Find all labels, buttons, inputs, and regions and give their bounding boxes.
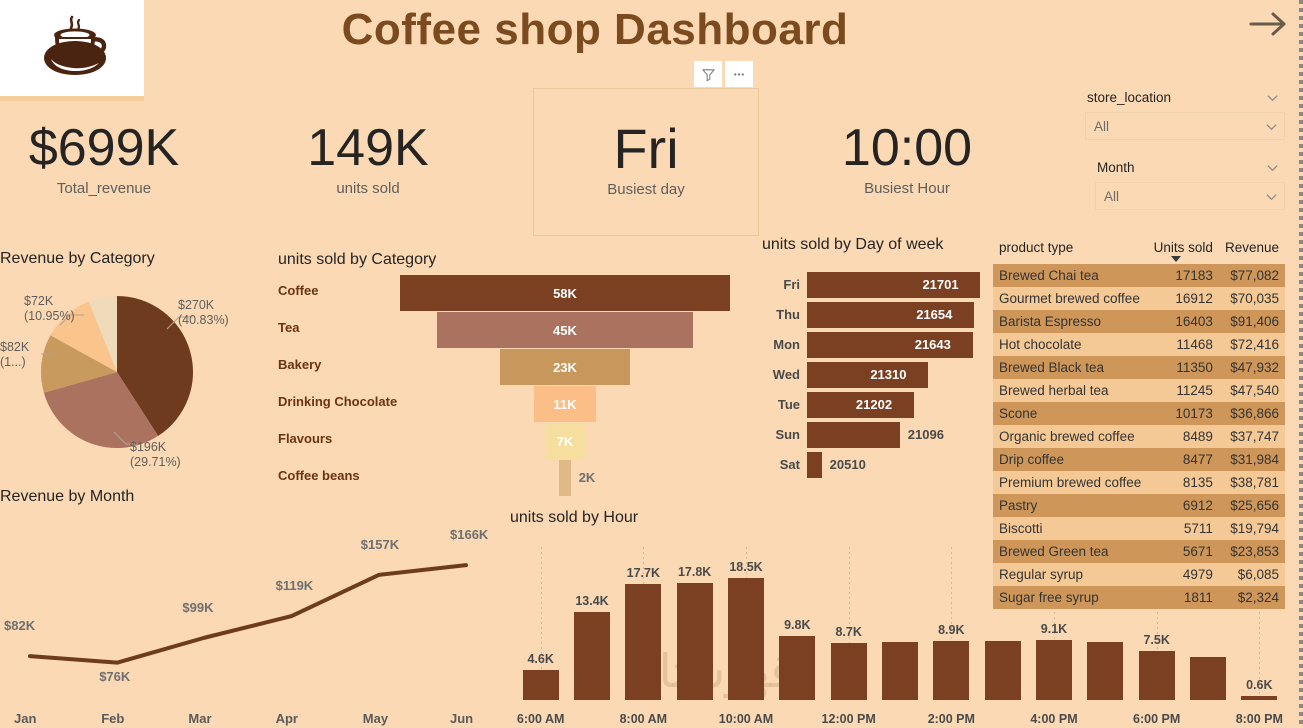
hour-value-label: 0.6K: [1231, 678, 1287, 692]
table-row[interactable]: Regular syrup4979$6,085: [993, 563, 1285, 586]
slicer-month[interactable]: Month All: [1085, 156, 1285, 210]
filter-icon[interactable]: [694, 61, 722, 87]
cell-revenue: $72,416: [1219, 333, 1285, 356]
funnel-track: 58K: [400, 275, 730, 311]
chart-title-revenue-by-category: Revenue by Category: [0, 250, 155, 268]
day-label: Fri: [762, 277, 800, 292]
funnel-category-label: Flavours: [278, 431, 398, 446]
slicer-dropdown[interactable]: All: [1085, 112, 1285, 140]
kpi-value: 10:00: [795, 118, 1019, 178]
funnel-value-label: 58K: [553, 286, 577, 301]
hour-value-label: 17.8K: [667, 565, 723, 579]
more-options-icon[interactable]: [725, 61, 753, 87]
cell-units-sold: 1811: [1148, 586, 1219, 609]
cell-revenue: $36,866: [1219, 402, 1285, 425]
funnel-bar[interactable]: 7K: [545, 423, 585, 459]
cell-revenue: $38,781: [1219, 471, 1285, 494]
line-value-label: $76K: [99, 669, 130, 684]
hour-bar[interactable]: [1139, 651, 1175, 700]
hour-bar[interactable]: [882, 642, 918, 700]
funnel-track: 45K: [400, 312, 730, 348]
cell-revenue: $47,932: [1219, 356, 1285, 379]
day-bar[interactable]: [807, 362, 928, 388]
hour-bar[interactable]: [831, 643, 867, 700]
hour-value-label: 18.5K: [718, 560, 774, 574]
funnel-category-label: Coffee: [278, 283, 398, 298]
col-header-product-type[interactable]: product type: [993, 238, 1148, 264]
cell-product-type: Barista Espresso: [993, 310, 1148, 333]
col-header-units-sold[interactable]: Units sold: [1148, 238, 1219, 264]
funnel-track: 23K: [400, 349, 730, 385]
line-axis-tick: Jun: [450, 711, 473, 726]
cell-revenue: $31,984: [1219, 448, 1285, 471]
chart-title-units-sold-by-hour: units sold by Hour: [510, 509, 638, 527]
slicer-field-label: store_location: [1087, 90, 1171, 105]
day-bar[interactable]: [807, 422, 900, 448]
col-header-revenue[interactable]: Revenue: [1219, 238, 1285, 264]
table-row[interactable]: Brewed herbal tea11245$47,540: [993, 379, 1285, 402]
chevron-down-icon[interactable]: [1265, 120, 1278, 133]
kpi-value: 149K: [280, 118, 456, 178]
day-label: Sun: [762, 427, 800, 442]
cell-product-type: Organic brewed coffee: [993, 425, 1148, 448]
kpi-card-busiest-hour[interactable]: 10:00 Busiest Hour: [795, 118, 1019, 197]
table-row[interactable]: Organic brewed coffee8489$37,747: [993, 425, 1285, 448]
funnel-value-label: 23K: [553, 360, 577, 375]
day-label: Wed: [762, 367, 800, 382]
pie-label-slice-1: $196K(29.71%): [130, 440, 181, 470]
slicer-header[interactable]: Month: [1085, 156, 1285, 178]
kpi-label: units sold: [280, 180, 456, 197]
cell-product-type: Drip coffee: [993, 448, 1148, 471]
cell-product-type: Sugar free syrup: [993, 586, 1148, 609]
coffee-cup-icon: [29, 11, 115, 85]
funnel-value-label: 11K: [553, 397, 576, 412]
hour-axis-tick: 2:00 PM: [911, 712, 991, 726]
cell-units-sold: 8489: [1148, 425, 1219, 448]
chart-revenue-by-month[interactable]: $82K$76K$99K$119K$157K$166KJanFebMarAprM…: [0, 510, 490, 728]
hour-bar[interactable]: [933, 641, 969, 700]
cell-revenue: $6,085: [1219, 563, 1285, 586]
chart-title-units-sold-by-category: units sold by Category: [278, 251, 436, 269]
hour-bar[interactable]: [779, 636, 815, 700]
day-of-week-row[interactable]: Mon21643: [762, 332, 992, 359]
cell-revenue: $70,035: [1219, 287, 1285, 310]
day-bar[interactable]: [807, 452, 822, 478]
funnel-row[interactable]: Bakery23K: [278, 349, 730, 385]
line-svg: [0, 510, 490, 700]
cell-units-sold: 6912: [1148, 494, 1219, 517]
table-row[interactable]: Scone10173$36,866: [993, 402, 1285, 425]
day-of-week-row[interactable]: Sat20510: [762, 452, 992, 479]
hour-value-label: 7.5K: [1129, 633, 1185, 647]
hour-axis-tick: 8:00 AM: [603, 712, 683, 726]
slicer-field-label: Month: [1097, 160, 1135, 175]
table-row[interactable]: Brewed Black tea11350$47,932: [993, 356, 1285, 379]
line-value-label: $99K: [182, 600, 213, 615]
line-axis-tick: May: [363, 711, 388, 726]
cell-units-sold: 11245: [1148, 379, 1219, 402]
hour-value-label: 8.9K: [923, 623, 979, 637]
table-row[interactable]: Barista Espresso16403$91,406: [993, 310, 1285, 333]
product-table: product type Units sold Revenue Brewed C…: [993, 238, 1285, 609]
cell-units-sold: 11350: [1148, 356, 1219, 379]
funnel-category-label: Drinking Chocolate: [278, 394, 398, 409]
chart-units-sold-by-category[interactable]: Coffee58KTea45KBakery23KDrinking Chocola…: [278, 275, 730, 495]
day-label: Thu: [762, 307, 800, 322]
hour-bar[interactable]: [523, 670, 559, 700]
cell-units-sold: 5671: [1148, 540, 1219, 563]
table-row[interactable]: Hot chocolate11468$72,416: [993, 333, 1285, 356]
funnel-value-label: 7K: [557, 434, 574, 449]
hour-bar[interactable]: [677, 583, 713, 700]
line-axis-tick: Apr: [276, 711, 298, 726]
hour-axis-tick: 10:00 AM: [706, 712, 786, 726]
cell-product-type: Brewed Black tea: [993, 356, 1148, 379]
table-row[interactable]: Brewed Chai tea17183$77,082: [993, 264, 1285, 287]
hour-value-label: 4.6K: [513, 652, 569, 666]
table-row[interactable]: Gourmet brewed coffee16912$70,035: [993, 287, 1285, 310]
funnel-track: 11K: [400, 386, 730, 422]
chart-revenue-by-category[interactable]: $270K(40.83%) $196K(29.71%) $82K(1...) $…: [0, 272, 270, 487]
day-value-label: 21701: [922, 277, 958, 292]
day-label: Sat: [762, 457, 800, 472]
cell-product-type: Gourmet brewed coffee: [993, 287, 1148, 310]
hour-bar[interactable]: [625, 584, 661, 700]
cell-product-type: Scone: [993, 402, 1148, 425]
day-value-label: 20510: [830, 457, 866, 472]
funnel-bar[interactable]: 11K: [534, 386, 597, 422]
cell-units-sold: 17183: [1148, 264, 1219, 287]
line-axis-tick: Mar: [188, 711, 211, 726]
hour-bar[interactable]: [985, 641, 1021, 700]
line-value-label: $82K: [4, 618, 35, 633]
hour-axis-tick: 4:00 PM: [1014, 712, 1094, 726]
line-axis-tick: Jan: [14, 711, 36, 726]
cell-units-sold: 8477: [1148, 448, 1219, 471]
funnel-value-label: 2K: [579, 470, 596, 485]
cell-units-sold: 16912: [1148, 287, 1219, 310]
cell-units-sold: 4979: [1148, 563, 1219, 586]
table-row[interactable]: Brewed Green tea5671$23,853: [993, 540, 1285, 563]
cell-product-type: Brewed Green tea: [993, 540, 1148, 563]
table-row[interactable]: Drip coffee8477$31,984: [993, 448, 1285, 471]
day-of-week-row[interactable]: Sun21096: [762, 422, 992, 449]
day-label: Mon: [762, 337, 800, 352]
hour-bar[interactable]: [1087, 642, 1123, 700]
hour-axis-tick: 8:00 PM: [1219, 712, 1299, 726]
cell-units-sold: 8135: [1148, 471, 1219, 494]
funnel-category-label: Tea: [278, 320, 398, 335]
hour-axis-tick: 6:00 PM: [1117, 712, 1197, 726]
funnel-row[interactable]: Tea45K: [278, 312, 730, 348]
hour-bar[interactable]: [728, 578, 764, 700]
funnel-row[interactable]: Drinking Chocolate11K: [278, 386, 730, 422]
arrow-right-icon[interactable]: [1245, 4, 1291, 44]
day-of-week-row[interactable]: Tue21202: [762, 392, 992, 419]
cell-revenue: $91,406: [1219, 310, 1285, 333]
cell-product-type: Regular syrup: [993, 563, 1148, 586]
brand-logo-card: [0, 0, 144, 101]
cell-product-type: Brewed herbal tea: [993, 379, 1148, 402]
cell-product-type: Biscotti: [993, 517, 1148, 540]
chart-title-units-sold-by-day-of-week: units sold by Day of week: [762, 236, 943, 254]
day-value-label: 21202: [856, 397, 892, 412]
hour-value-label: 8.7K: [821, 625, 877, 639]
hour-bar[interactable]: [1190, 657, 1226, 700]
day-value-label: 21654: [916, 307, 952, 322]
table-row[interactable]: Premium brewed coffee8135$38,781: [993, 471, 1285, 494]
kpi-label: Busiest Hour: [795, 180, 1019, 197]
chevron-down-icon[interactable]: [1266, 91, 1279, 104]
line-value-label: $119K: [276, 578, 314, 593]
hour-axis-tick: 12:00 PM: [809, 712, 889, 726]
table-header: product type Units sold Revenue: [993, 238, 1285, 264]
table-row[interactable]: Biscotti5711$19,794: [993, 517, 1285, 540]
slicer-header[interactable]: store_location: [1085, 86, 1285, 108]
table-body: Brewed Chai tea17183$77,082Gourmet brewe…: [993, 264, 1285, 609]
kpi-value: Fri: [534, 119, 758, 179]
funnel-bar[interactable]: 45K: [437, 312, 693, 348]
funnel-track: 2K: [400, 460, 730, 496]
day-of-week-row[interactable]: Fri21701: [762, 272, 992, 299]
cell-revenue: $77,082: [1219, 264, 1285, 287]
line-value-label: $166K: [450, 527, 488, 542]
cell-product-type: Pastry: [993, 494, 1148, 517]
funnel-row[interactable]: Flavours7K: [278, 423, 730, 459]
day-of-week-row[interactable]: Wed21310: [762, 362, 992, 389]
hour-axis-tick: 6:00 AM: [501, 712, 581, 726]
hour-value-label: 9.8K: [769, 618, 825, 632]
funnel-row[interactable]: Coffee beans2K: [278, 460, 730, 496]
hour-bar[interactable]: [1241, 696, 1277, 700]
cell-units-sold: 10173: [1148, 402, 1219, 425]
cell-revenue: $2,324: [1219, 586, 1285, 609]
table-row[interactable]: Sugar free syrup1811$2,324: [993, 586, 1285, 609]
hour-bar[interactable]: [1036, 640, 1072, 700]
visual-header-buttons: [694, 61, 753, 87]
day-label: Tue: [762, 397, 800, 412]
page-border-right: [1299, 0, 1303, 728]
hour-value-label: 17.7K: [615, 566, 671, 580]
cell-product-type: Hot chocolate: [993, 333, 1148, 356]
kpi-card-busiest-day[interactable]: Fri Busiest day: [533, 88, 759, 236]
chevron-down-icon[interactable]: [1266, 161, 1279, 174]
hour-value-label: 9.1K: [1026, 622, 1082, 636]
funnel-category-label: Bakery: [278, 357, 398, 372]
line-value-label: $157K: [361, 537, 399, 552]
funnel-category-label: Coffee beans: [278, 468, 398, 483]
day-of-week-row[interactable]: Thu21654: [762, 302, 992, 329]
page-title: Coffee shop Dashboard: [315, 2, 875, 60]
cell-units-sold: 16403: [1148, 310, 1219, 333]
cell-revenue: $19,794: [1219, 517, 1285, 540]
cell-units-sold: 11468: [1148, 333, 1219, 356]
funnel-bar[interactable]: [559, 460, 570, 496]
cell-units-sold: 5711: [1148, 517, 1219, 540]
day-value-label: 21096: [908, 427, 944, 442]
kpi-label: Busiest day: [534, 181, 758, 198]
slicer-dropdown[interactable]: All: [1095, 182, 1285, 210]
hour-value-label: 13.4K: [564, 594, 620, 608]
pie-label-slice-3: $72K(10.95%): [24, 294, 75, 324]
slicer-selected-value: All: [1094, 119, 1109, 134]
cell-revenue: $47,540: [1219, 379, 1285, 402]
funnel-bar[interactable]: 58K: [400, 275, 730, 311]
funnel-track: 7K: [400, 423, 730, 459]
sort-descending-icon: [1171, 256, 1181, 262]
dashboard-canvas: Coffee shop Dashboard $699K Total_revenu…: [0, 0, 1303, 728]
table-row[interactable]: Pastry6912$25,656: [993, 494, 1285, 517]
kpi-label: Total_revenue: [14, 180, 194, 197]
slicer-selected-value: All: [1104, 189, 1119, 204]
kpi-card-total-revenue[interactable]: $699K Total_revenue: [14, 118, 194, 197]
funnel-bar[interactable]: 23K: [500, 349, 631, 385]
hour-bar[interactable]: [574, 612, 610, 700]
line-axis-tick: Feb: [101, 711, 124, 726]
kpi-card-units-sold[interactable]: 149K units sold: [280, 118, 456, 197]
cell-product-type: Brewed Chai tea: [993, 264, 1148, 287]
funnel-value-label: 45K: [553, 323, 577, 338]
chart-units-sold-by-day-of-week[interactable]: Fri21701Thu21654Mon21643Wed21310Tue21202…: [762, 272, 992, 494]
cell-product-type: Premium brewed coffee: [993, 471, 1148, 494]
cell-revenue: $25,656: [1219, 494, 1285, 517]
pie-label-slice-2: $82K(1...): [0, 340, 29, 370]
funnel-row[interactable]: Coffee58K: [278, 275, 730, 311]
kpi-value: $699K: [14, 118, 194, 178]
table-product-type[interactable]: product type Units sold Revenue Brewed C…: [993, 238, 1285, 609]
cell-revenue: $23,853: [1219, 540, 1285, 563]
chevron-down-icon[interactable]: [1265, 190, 1278, 203]
slicer-store-location[interactable]: store_location All: [1085, 86, 1285, 140]
day-value-label: 21310: [870, 367, 906, 382]
cell-revenue: $37,747: [1219, 425, 1285, 448]
chart-title-revenue-by-month: Revenue by Month: [0, 488, 134, 506]
pie-label-slice-0: $270K(40.83%): [178, 298, 229, 328]
revenue-line[interactable]: [30, 565, 466, 663]
day-value-label: 21643: [915, 337, 951, 352]
